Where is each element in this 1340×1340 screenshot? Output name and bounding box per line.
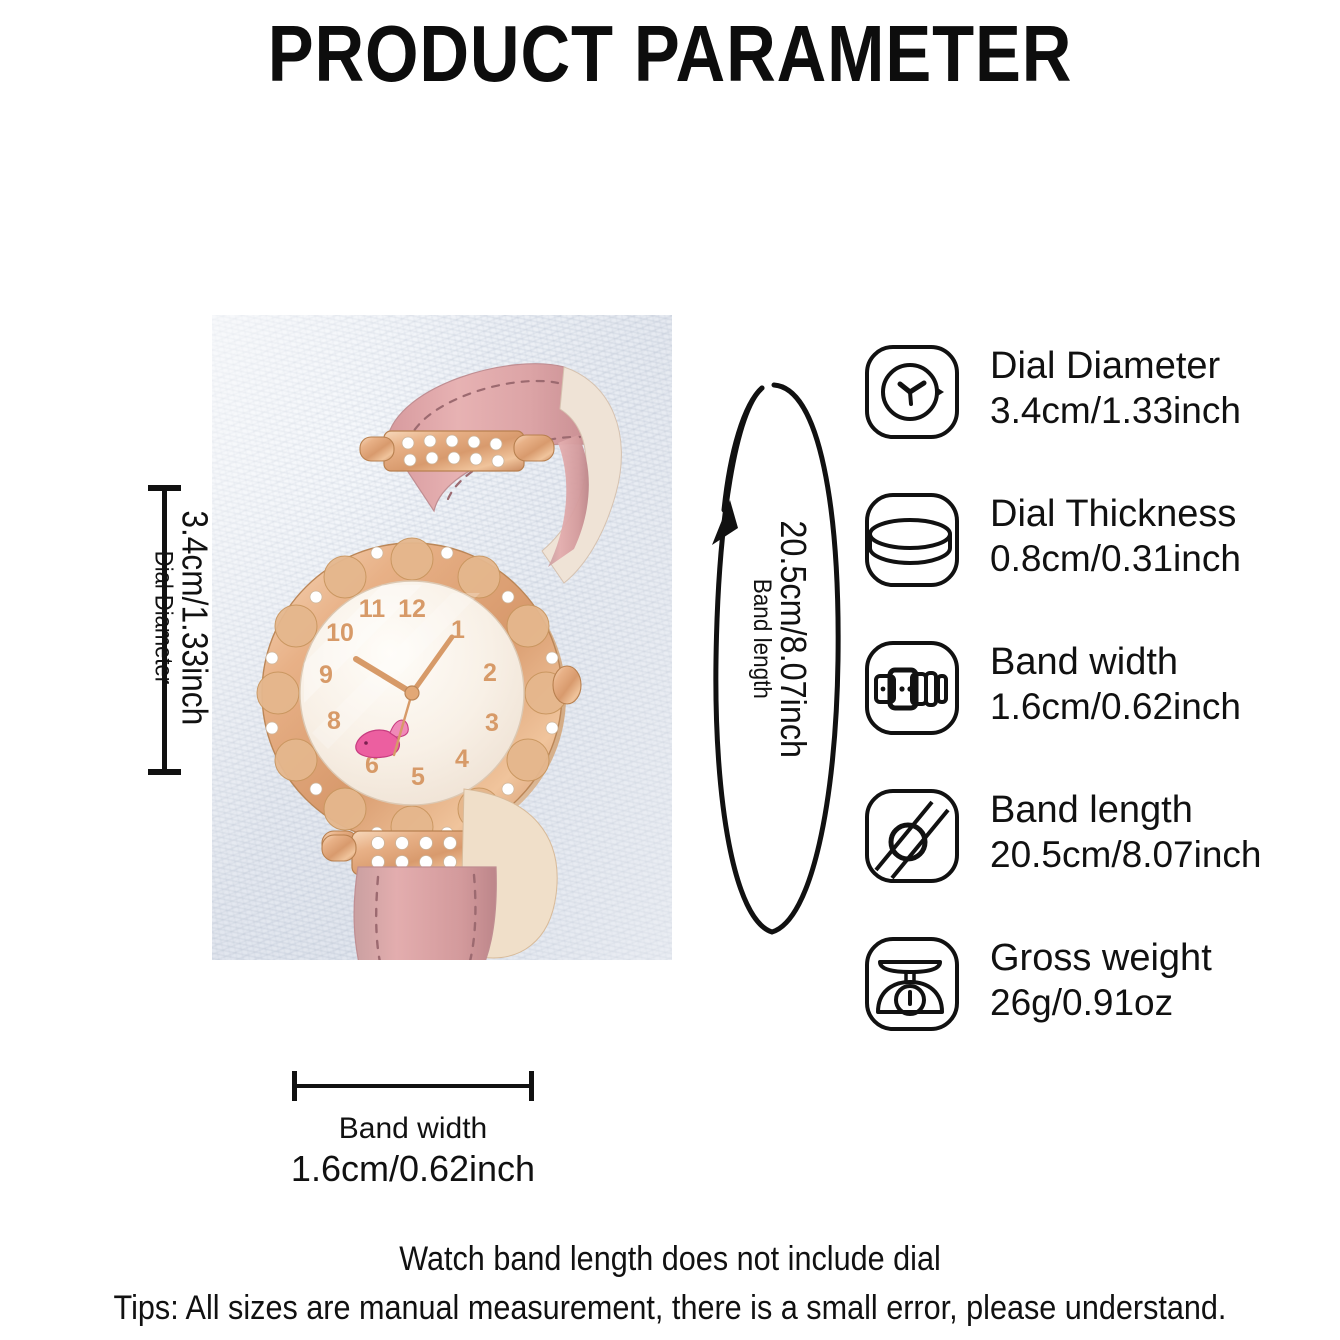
band-width-value: 1.6cm/0.62inch — [248, 1148, 578, 1190]
band-length-label: Band length — [749, 579, 775, 699]
spec-label: Band length — [990, 788, 1282, 833]
spec-row-dial-diameter: Dial Diameter 3.4cm/1.33inch — [862, 338, 1282, 486]
spec-text: Dial Diameter 3.4cm/1.33inch — [962, 338, 1282, 432]
band-width-label: Band width — [258, 1112, 568, 1146]
spec-text: Band width 1.6cm/0.62inch — [962, 634, 1282, 728]
svg-text:8: 8 — [327, 707, 341, 735]
spec-text: Dial Thickness 0.8cm/0.31inch — [962, 486, 1282, 580]
dimension-line — [294, 1084, 532, 1088]
dimension-cap-bottom — [148, 769, 181, 775]
dimension-dial-diameter: Dial Diameter 3.4cm/1.33inch — [118, 482, 188, 782]
svg-text:1: 1 — [451, 616, 465, 644]
dimension-cap-right — [529, 1071, 534, 1101]
spec-value: 20.5cm/8.07inch — [990, 833, 1282, 877]
watch-dial-icon — [862, 342, 962, 442]
dimension-labels: Dial Diameter 3.4cm/1.33inch — [150, 468, 213, 768]
spec-row-band-length: Band length 20.5cm/8.07inch — [862, 782, 1282, 930]
svg-text:5: 5 — [411, 763, 425, 791]
spec-text: Gross weight 26g/0.91oz — [962, 930, 1282, 1024]
kitchen-scale-icon — [862, 934, 962, 1034]
watch-product-photo: 12 1 2 3 4 5 6 8 9 10 11 — [212, 315, 672, 960]
spec-label: Gross weight — [990, 936, 1282, 981]
svg-text:10: 10 — [326, 619, 354, 647]
spec-value: 26g/0.91oz — [990, 981, 1282, 1025]
dimension-band-width: Band width 1.6cm/0.62inch — [288, 1068, 538, 1178]
spec-label: Dial Thickness — [990, 492, 1282, 537]
dimension-label: Dial Diameter — [150, 551, 176, 684]
dimension-value: 3.4cm/1.33inch — [176, 510, 213, 725]
watch-strap-diagonal-icon — [862, 786, 962, 886]
buckle-strap-icon — [862, 638, 962, 738]
svg-text:2: 2 — [483, 659, 497, 687]
band-length-labels: Band length 20.5cm/8.07inch — [749, 404, 811, 874]
page-title: PRODUCT PARAMETER — [94, 14, 1246, 94]
spec-text: Band length 20.5cm/8.07inch — [962, 782, 1282, 876]
spec-label: Band width — [990, 640, 1282, 685]
spec-list: Dial Diameter 3.4cm/1.33inch Dial Thickn… — [862, 338, 1282, 1078]
spec-row-gross-weight: Gross weight 26g/0.91oz — [862, 930, 1282, 1078]
product-parameter-infographic: PRODUCT PARAMETER — [0, 0, 1340, 1340]
cylinder-thickness-icon — [862, 490, 962, 590]
footer-line-2: Tips: All sizes are manual measurement, … — [67, 1287, 1273, 1330]
svg-text:11: 11 — [359, 595, 386, 623]
spec-value: 3.4cm/1.33inch — [990, 389, 1282, 433]
watch-illustration: 12 1 2 3 4 5 6 8 9 10 11 — [212, 315, 672, 960]
svg-text:12: 12 — [398, 595, 426, 623]
spec-value: 0.8cm/0.31inch — [990, 537, 1282, 581]
svg-text:9: 9 — [319, 661, 333, 689]
dimension-band-length: Band length 20.5cm/8.07inch — [700, 360, 860, 945]
spec-value: 1.6cm/0.62inch — [990, 685, 1282, 729]
svg-text:3: 3 — [485, 709, 499, 737]
spec-row-band-width: Band width 1.6cm/0.62inch — [862, 634, 1282, 782]
spec-label: Dial Diameter — [990, 344, 1282, 389]
spec-row-dial-thickness: Dial Thickness 0.8cm/0.31inch — [862, 486, 1282, 634]
svg-text:4: 4 — [455, 745, 469, 773]
footer-line-1: Watch band length does not include dial — [67, 1238, 1273, 1281]
band-length-value: 20.5cm/8.07inch — [774, 520, 811, 758]
footer-notes: Watch band length does not include dial … — [0, 1238, 1340, 1330]
